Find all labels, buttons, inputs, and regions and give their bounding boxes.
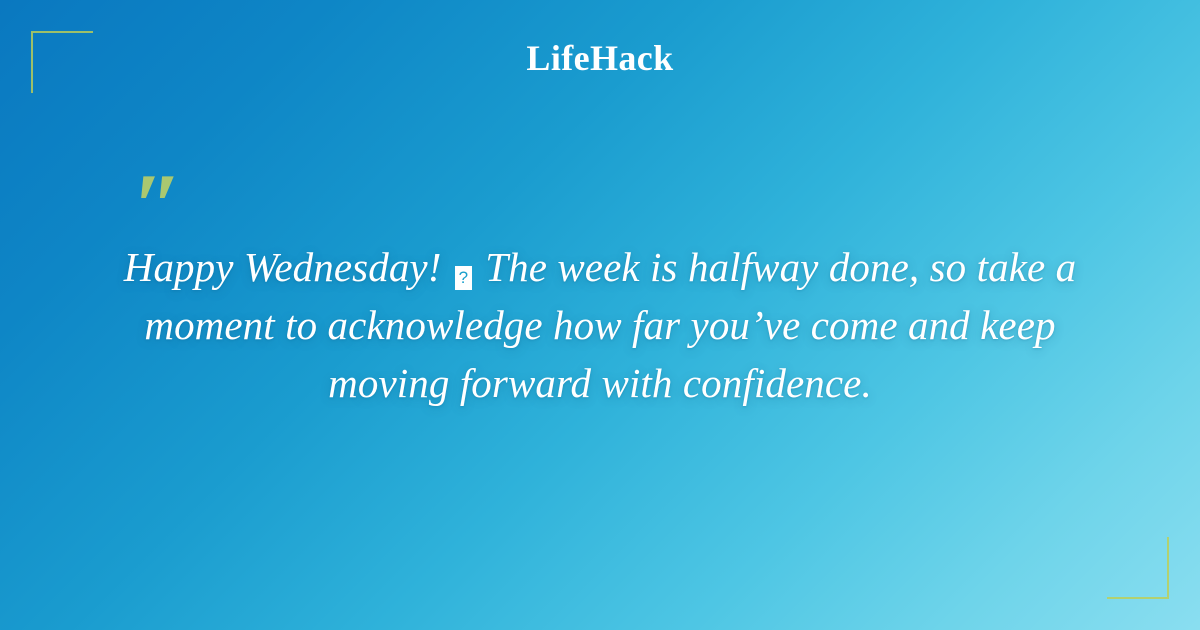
brand-name: LifeHack bbox=[526, 40, 673, 76]
corner-bracket-bottom-right-icon bbox=[1107, 537, 1169, 599]
quote-text: Happy Wednesday! ? The week is halfway d… bbox=[100, 238, 1100, 413]
quote-greeting: Happy Wednesday! bbox=[124, 244, 442, 290]
brand-logo: LifeHack bbox=[0, 40, 1200, 76]
quote-card: LifeHack ″ Happy Wednesday! ? The week i… bbox=[0, 0, 1200, 630]
missing-glyph-box-icon: ? bbox=[455, 266, 472, 290]
